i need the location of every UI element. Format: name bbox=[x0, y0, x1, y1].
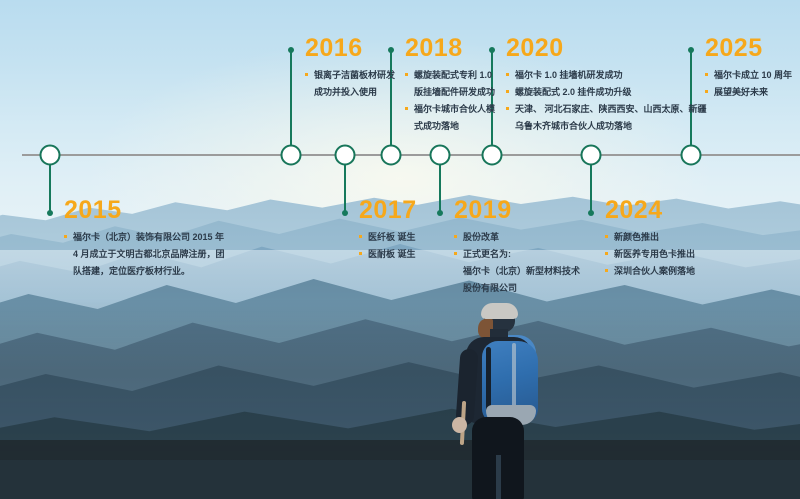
timeline-entry-2024[interactable]: 2024新颜色推出新医养专用色卡推出深圳合伙人案例落地 bbox=[605, 198, 695, 281]
timeline-year-label-2016: 2016 bbox=[305, 36, 395, 61]
timeline-item: 展望美好未来 bbox=[705, 85, 792, 99]
timeline-stem-dot-2017 bbox=[342, 210, 348, 216]
timeline-stem-dot-2024 bbox=[588, 210, 594, 216]
timeline-year-label-2019: 2019 bbox=[454, 198, 580, 223]
timeline-stem-dot-2019 bbox=[437, 210, 443, 216]
timeline-item-list-2016: 银离子洁菌板材研发成功并投入使用 bbox=[305, 68, 395, 99]
timeline-stem-dot-2016 bbox=[288, 47, 294, 53]
timeline-year-label-2018: 2018 bbox=[405, 36, 495, 61]
timeline-year-label-2015: 2015 bbox=[64, 198, 225, 223]
timeline-entry-2016[interactable]: 2016银离子洁菌板材研发成功并投入使用 bbox=[305, 36, 395, 102]
timeline-node-2015[interactable] bbox=[40, 145, 61, 166]
timeline-entry-2015[interactable]: 2015福尔卡（北京）装饰有限公司 2015 年4 月成立于文明古都北京品牌注册… bbox=[64, 198, 225, 281]
timeline-item: 新医养专用色卡推出 bbox=[605, 247, 695, 261]
timeline-entry-2019[interactable]: 2019股份改革正式更名为:福尔卡（北京）新型材料技术股份有限公司 bbox=[454, 198, 580, 298]
timeline-graphic: 2015福尔卡（北京）装饰有限公司 2015 年4 月成立于文明古都北京品牌注册… bbox=[0, 0, 800, 499]
timeline-item: 福尔卡城市合伙人模 bbox=[405, 102, 495, 116]
timeline-item: 乌鲁木齐城市合伙人成功落地 bbox=[506, 119, 707, 133]
timeline-item-list-2015: 福尔卡（北京）装饰有限公司 2015 年4 月成立于文明古都北京品牌注册，团队搭… bbox=[64, 230, 225, 278]
timeline-entry-2017[interactable]: 2017医纤板 诞生医耐板 诞生 bbox=[359, 198, 417, 264]
timeline-item: 队搭建，定位医疗板材行业。 bbox=[64, 264, 225, 278]
timeline-item: 医耐板 诞生 bbox=[359, 247, 417, 261]
timeline-item-list-2024: 新颜色推出新医养专用色卡推出深圳合伙人案例落地 bbox=[605, 230, 695, 278]
timeline-item: 深圳合伙人案例落地 bbox=[605, 264, 695, 278]
timeline-item: 银离子洁菌板材研发 bbox=[305, 68, 395, 82]
timeline-item: 成功并投入使用 bbox=[305, 85, 395, 99]
timeline-node-2018[interactable] bbox=[381, 145, 402, 166]
timeline-item: 正式更名为: bbox=[454, 247, 580, 261]
timeline-node-2024[interactable] bbox=[581, 145, 602, 166]
timeline-item-list-2017: 医纤板 诞生医耐板 诞生 bbox=[359, 230, 417, 261]
timeline-item-list-2019: 股份改革正式更名为:福尔卡（北京）新型材料技术股份有限公司 bbox=[454, 230, 580, 295]
timeline-item: 股份有限公司 bbox=[454, 281, 580, 295]
timeline-item-list-2025: 福尔卡成立 10 周年展望美好未来 bbox=[705, 68, 792, 99]
timeline-item: 新颜色推出 bbox=[605, 230, 695, 244]
timeline-item-list-2018: 螺旋装配式专利 1.0版挂墙配件研发成功福尔卡城市合伙人模式成功落地 bbox=[405, 68, 495, 133]
timeline-entry-2018[interactable]: 2018螺旋装配式专利 1.0版挂墙配件研发成功福尔卡城市合伙人模式成功落地 bbox=[405, 36, 495, 136]
timeline-item-list-2020: 福尔卡 1.0 挂墙机研发成功螺旋装配式 2.0 挂件成功升级天津、 河北石家庄… bbox=[506, 68, 707, 133]
timeline-item: 螺旋装配式 2.0 挂件成功升级 bbox=[506, 85, 707, 99]
timeline-item: 股份改革 bbox=[454, 230, 580, 244]
timeline-node-2020[interactable] bbox=[482, 145, 503, 166]
timeline-item: 版挂墙配件研发成功 bbox=[405, 85, 495, 99]
timeline-item: 福尔卡成立 10 周年 bbox=[705, 68, 792, 82]
timeline-item: 螺旋装配式专利 1.0 bbox=[405, 68, 495, 82]
timeline-entry-2025[interactable]: 2025福尔卡成立 10 周年展望美好未来 bbox=[705, 36, 792, 102]
timeline-node-2016[interactable] bbox=[281, 145, 302, 166]
timeline-item: 式成功落地 bbox=[405, 119, 495, 133]
timeline-year-label-2020: 2020 bbox=[506, 36, 707, 61]
timeline-item: 医纤板 诞生 bbox=[359, 230, 417, 244]
timeline-stem-2016 bbox=[290, 50, 292, 155]
timeline-node-2025[interactable] bbox=[681, 145, 702, 166]
timeline-year-label-2025: 2025 bbox=[705, 36, 792, 61]
timeline-item: 福尔卡 1.0 挂墙机研发成功 bbox=[506, 68, 707, 82]
timeline-entry-2020[interactable]: 2020福尔卡 1.0 挂墙机研发成功螺旋装配式 2.0 挂件成功升级天津、 河… bbox=[506, 36, 707, 136]
timeline-item: 4 月成立于文明古都北京品牌注册，团 bbox=[64, 247, 225, 261]
timeline-node-2019[interactable] bbox=[430, 145, 451, 166]
timeline-item: 天津、 河北石家庄、陕西西安、山西太原、新疆 bbox=[506, 102, 707, 116]
timeline-year-label-2017: 2017 bbox=[359, 198, 417, 223]
timeline-year-label-2024: 2024 bbox=[605, 198, 695, 223]
timeline-node-2017[interactable] bbox=[335, 145, 356, 166]
timeline-stem-dot-2015 bbox=[47, 210, 53, 216]
timeline-item: 福尔卡（北京）装饰有限公司 2015 年 bbox=[64, 230, 225, 244]
timeline-item: 福尔卡（北京）新型材料技术 bbox=[454, 264, 580, 278]
